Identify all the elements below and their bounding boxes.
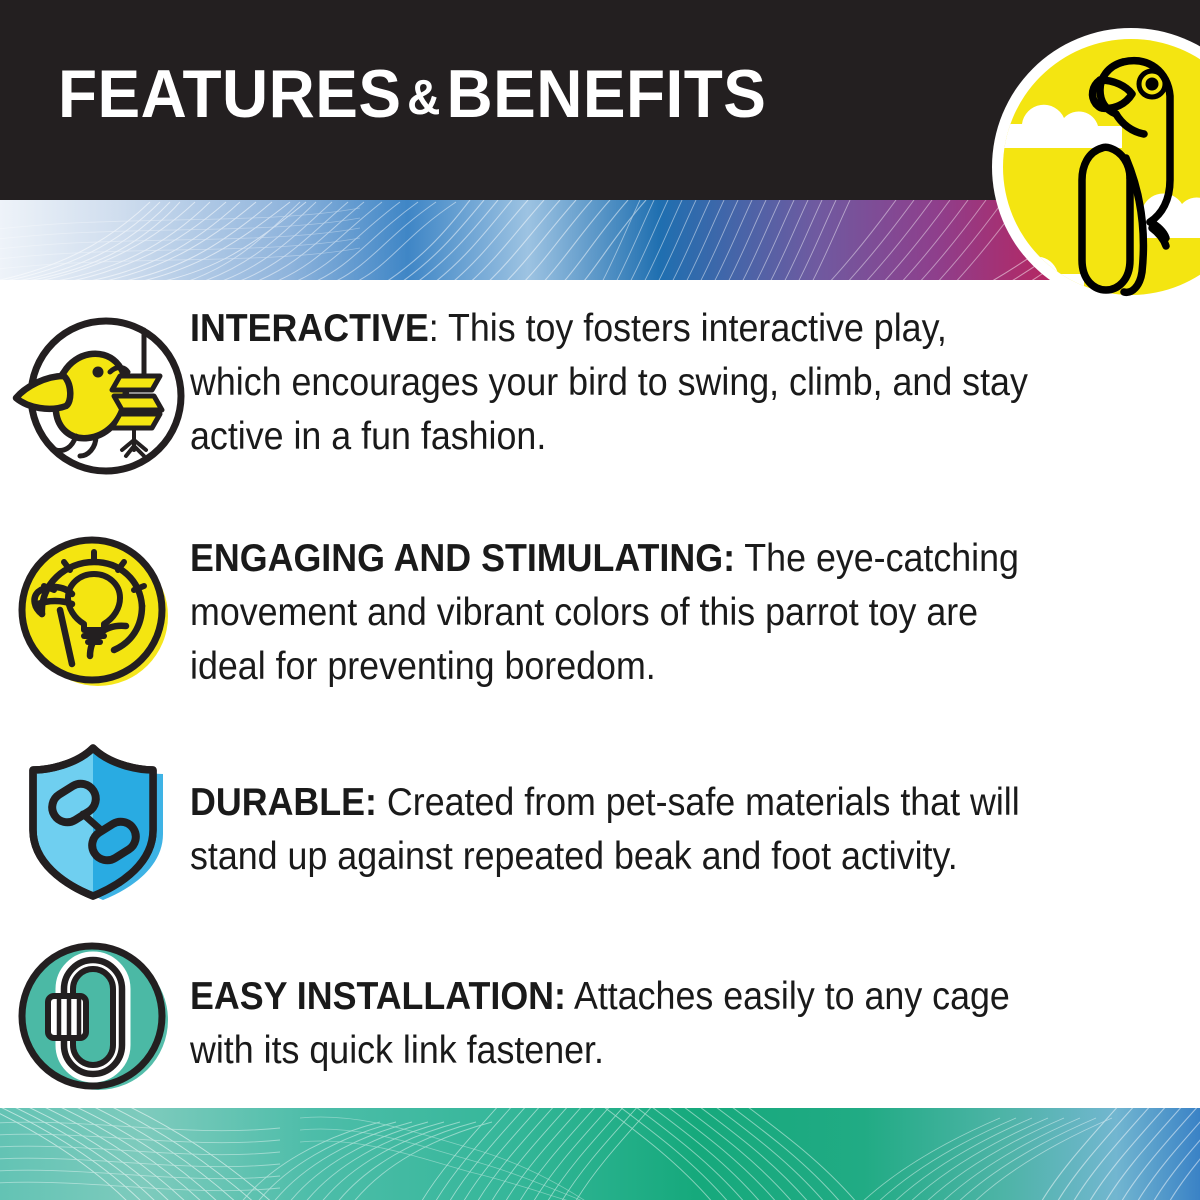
page-title-main: FEATURES	[58, 56, 401, 132]
shield-chain-link-icon	[0, 730, 190, 906]
feature-heading: DURABLE	[190, 781, 365, 824]
quick-link-fastener-icon	[0, 928, 190, 1098]
feature-text: EASY INSTALLATION: Attaches easily to an…	[190, 928, 1129, 1078]
feature-text: INTERACTIVE: This toy fosters interactiv…	[190, 302, 1129, 464]
feature-row: INTERACTIVE: This toy fosters interactiv…	[0, 302, 1200, 482]
feature-heading: INTERACTIVE	[190, 307, 429, 350]
feature-row: EASY INSTALLATION: Attaches easily to an…	[0, 928, 1200, 1098]
feature-separator: :	[365, 781, 377, 824]
feature-separator: :	[429, 307, 439, 350]
page-title: FEATURES&BENEFITS	[58, 56, 766, 139]
feature-heading: ENGAGING AND STIMULATING	[190, 537, 723, 580]
infographic-page: FEATURES&BENEFITS	[0, 0, 1200, 1200]
bird-playing-toy-icon	[0, 302, 190, 482]
feature-row: DURABLE: Created from pet-safe materials…	[0, 730, 1200, 906]
features-list: INTERACTIVE: This toy fosters interactiv…	[0, 296, 1200, 1098]
feature-separator: :	[723, 537, 735, 580]
feature-row: ENGAGING AND STIMULATING: The eye-catchi…	[0, 520, 1200, 694]
page-title-ampersand: &	[401, 71, 446, 125]
feature-text: ENGAGING AND STIMULATING: The eye-catchi…	[190, 520, 1129, 694]
feature-separator: :	[554, 975, 566, 1018]
feature-heading: EASY INSTALLATION	[190, 975, 554, 1018]
parrot-badge-icon	[992, 28, 1200, 306]
feature-text: DURABLE: Created from pet-safe materials…	[190, 730, 1129, 884]
bird-idea-lightbulb-icon	[0, 520, 190, 692]
feather-gradient-band-bottom	[0, 1108, 1200, 1200]
page-title-tail: BENEFITS	[447, 56, 767, 132]
